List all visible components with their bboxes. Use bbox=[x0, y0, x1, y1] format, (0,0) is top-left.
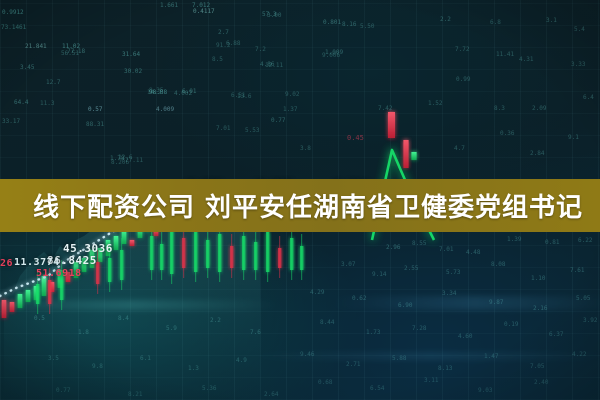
headline-banner: 线下配资公司 刘平安任湖南省卫健委党组书记 bbox=[0, 179, 600, 232]
headline-text: 线下配资公司 刘平安任湖南省卫健委党组书记 bbox=[33, 187, 583, 224]
trading-chart-banner-image: 0.991273.146111.0277.1821.84156.5131.643… bbox=[0, 0, 600, 400]
